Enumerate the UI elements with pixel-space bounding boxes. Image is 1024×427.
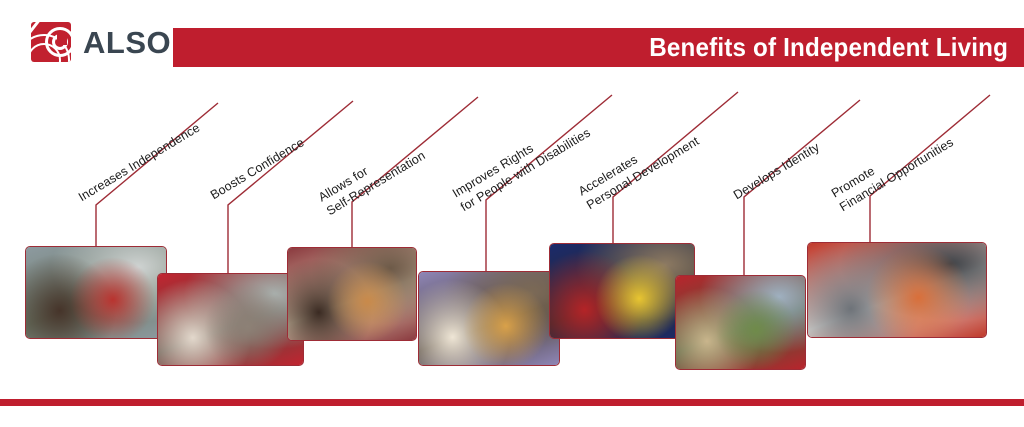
page-title: Benefits of Independent Living: [649, 32, 1024, 63]
photo-improves-rights-people-with-disabilities: [419, 272, 559, 365]
footer-rule: [0, 399, 1024, 406]
label-increases-independence: Increases Independence: [76, 121, 203, 206]
photo-card-increases-independence[interactable]: [25, 246, 167, 339]
label-line-1: Increases Independence: [76, 121, 202, 205]
header: ALSO Benefits of Independent Living: [0, 0, 1024, 84]
photo-accelerates-personal-development: [550, 244, 694, 338]
photo-develops-identity: [676, 276, 805, 369]
label-accelerates-personal-development: AcceleratesPersonal Development: [576, 120, 702, 213]
photo-card-promote-financial-opportunities[interactable]: [807, 242, 987, 338]
label-line-1: Boosts Confidence: [208, 135, 307, 202]
photo-increases-independence: [26, 247, 166, 338]
label-develops-identity: Develops Identity: [731, 140, 823, 204]
photo-card-boosts-confidence[interactable]: [157, 273, 304, 366]
label-line-1: Develops Identity: [731, 140, 822, 202]
label-improves-rights-people-with-disabilities: Improves Rightsfor People with Disabilit…: [450, 112, 594, 215]
label-promote-financial-opportunities: PromoteFinancial Opportunities: [829, 121, 957, 215]
title-banner: Benefits of Independent Living: [173, 28, 1024, 67]
photo-card-develops-identity[interactable]: [675, 275, 806, 370]
photo-card-improves-rights-people-with-disabilities[interactable]: [418, 271, 560, 366]
label-allows-for-self-representation: Allows forSelf-Representation: [316, 135, 428, 220]
photo-allows-for-self-representation: [288, 248, 416, 340]
logo-wordmark: ALSO: [83, 27, 171, 58]
label-boosts-confidence: Boosts Confidence: [208, 135, 307, 203]
brand-logo: ALSO: [31, 22, 171, 62]
infographic-canvas: ALSO Benefits of Independent Living Incr…: [0, 0, 1024, 427]
photo-boosts-confidence: [158, 274, 303, 365]
photo-card-allows-for-self-representation[interactable]: [287, 247, 417, 341]
photo-card-accelerates-personal-development[interactable]: [549, 243, 695, 339]
also-logo-icon: [31, 22, 71, 62]
photo-promote-financial-opportunities: [808, 243, 986, 337]
